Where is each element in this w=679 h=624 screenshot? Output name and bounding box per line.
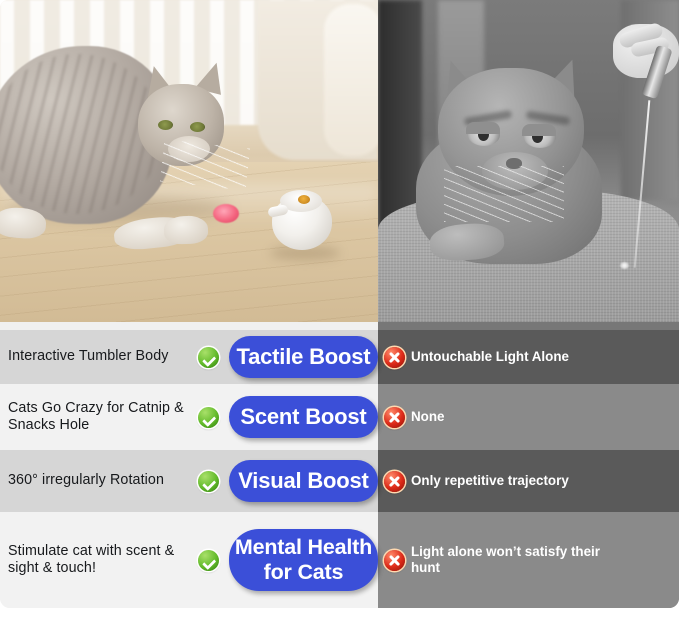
benefit-badge[interactable]: Scent Boost [229,396,378,438]
drawback-label: Only repetitive trajectory [411,473,569,489]
drawback-label: Untouchable Light Alone [411,349,569,365]
photo-cat-ignoring-laser [378,0,679,322]
drawback-label: None [411,409,444,425]
toy-catnip-hole [298,195,310,204]
table-row: Cats Go Crazy for Catnip & Snacks Hole S… [0,384,679,450]
x-icon [384,347,405,368]
photo-strip [0,0,679,322]
row-con-cell: Only repetitive trajectory [378,450,679,512]
row-pro-cell: Interactive Tumbler Body Tactile Boost [0,330,378,384]
check-icon [198,407,219,428]
grey-cat-whiskers [444,166,564,222]
row-pro-cell: 360° irregularly Rotation Visual Boost [0,450,378,512]
table-row: 360° irregularly Rotation Visual Boost O… [0,450,679,512]
feature-label: Cats Go Crazy for Catnip & Snacks Hole [0,400,198,435]
row-con-cell: Light alone won’t satisfy their hunt [378,512,679,608]
feature-label: 360° irregularly Rotation [0,472,198,490]
x-icon [384,550,405,571]
tumbler-toy [268,190,336,252]
sofa-leg-highlight [324,4,378,156]
photo-kitten-with-tumbler-toy [0,0,378,322]
x-icon [384,407,405,428]
product-comparison-infographic: Interactive Tumbler Body Tactile Boost U… [0,0,679,624]
feature-label: Interactive Tumbler Body [0,348,198,366]
feature-label: Stimulate cat with scent & sight & touch… [0,543,198,578]
x-icon [384,471,405,492]
benefit-badge[interactable]: Tactile Boost [229,336,378,378]
kitten-eye-left [158,120,173,130]
laser-dot [620,262,629,269]
kitten [0,40,246,255]
kitten-paw-front-right [164,215,209,245]
check-icon [198,550,219,571]
pink-light-dot [213,204,239,223]
row-con-cell: Untouchable Light Alone [378,330,679,384]
drawback-label: Light alone won’t satisfy their hunt [411,544,601,576]
kitten-fur-texture [0,54,162,214]
check-icon [198,347,219,368]
table-row: Interactive Tumbler Body Tactile Boost U… [0,330,679,384]
feature-comparison-table: Interactive Tumbler Body Tactile Boost U… [0,322,679,608]
row-con-cell: None [378,384,679,450]
kitten-whiskers [160,140,250,191]
row-pro-cell: Stimulate cat with scent & sight & touch… [0,512,378,608]
benefit-badge[interactable]: Visual Boost [229,460,378,502]
table-row: Stimulate cat with scent & sight & touch… [0,512,679,608]
row-pro-cell: Cats Go Crazy for Catnip & Snacks Hole S… [0,384,378,450]
grey-cat-eyelid-right [522,124,556,136]
benefit-badge[interactable]: Mental Health for Cats [229,529,378,591]
kitten-eye-right [190,122,205,132]
check-icon [198,471,219,492]
grey-cat [416,62,606,262]
grey-cat-eyelid-left [466,122,500,134]
